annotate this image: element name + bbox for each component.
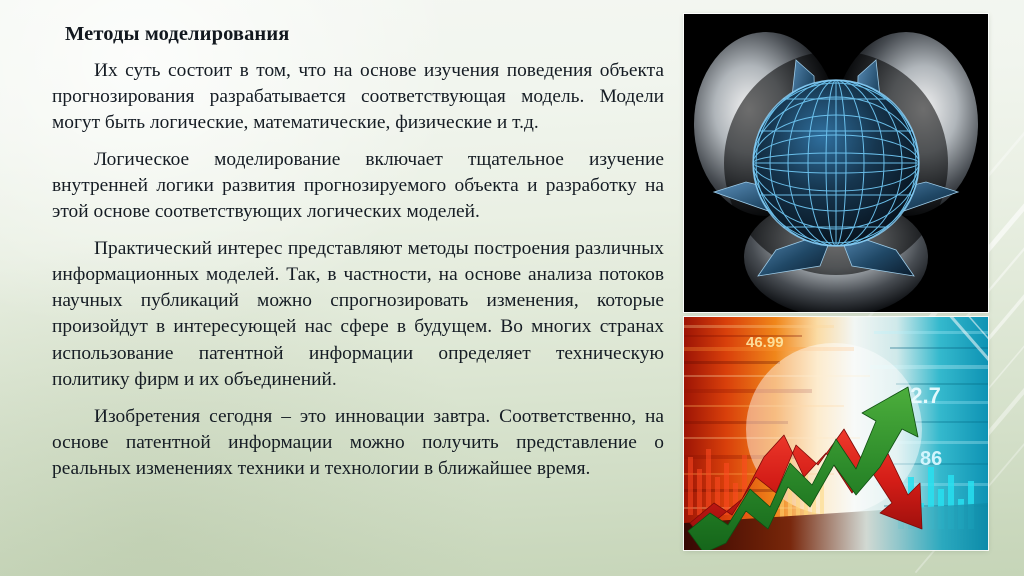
ticker-value-1: 46.99 [746, 334, 784, 351]
ticker-value-4: 86 [920, 448, 942, 470]
slide-text-column: Методы моделирования Их суть состоит в т… [52, 22, 664, 482]
body-paragraph-3: Практический интерес представляют методы… [52, 236, 664, 393]
page-title: Методы моделирования [65, 22, 664, 48]
image-3d-wireframe-model [684, 14, 988, 312]
slide-canvas: Методы моделирования Их суть состоит в т… [0, 0, 1024, 576]
body-paragraph-4: Изобретения сегодня – это инновации завт… [52, 404, 664, 482]
body-paragraph-2: Логическое моделирование включает тщател… [52, 147, 664, 225]
body-paragraph-1: Их суть состоит в том, что на основе изу… [52, 58, 664, 136]
image-market-arrows: 46.99 32.7 46.99 86 [684, 317, 988, 550]
